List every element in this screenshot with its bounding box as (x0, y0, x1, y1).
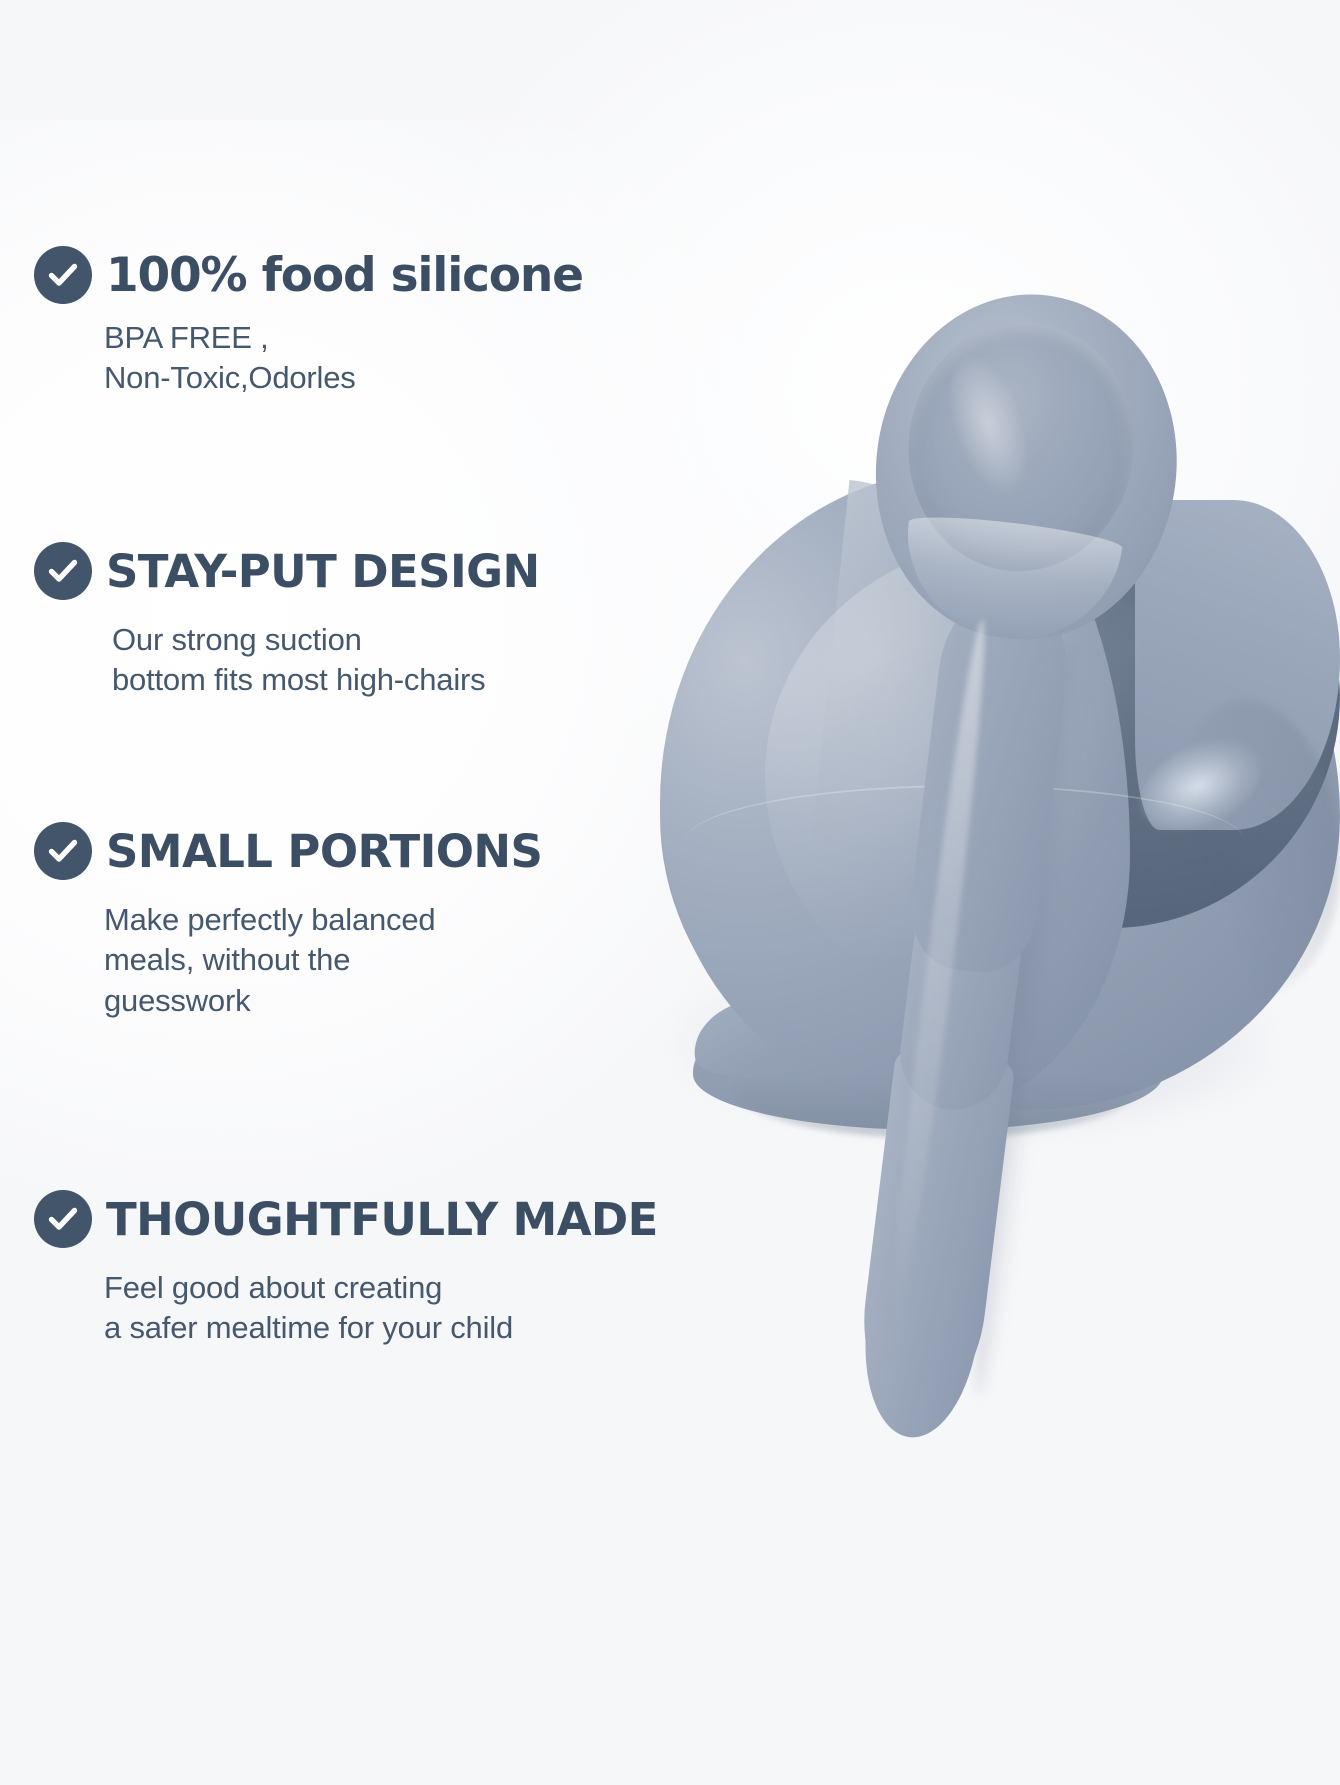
spoon-handle-tip (854, 1311, 980, 1444)
feature-item-small-portions: SMALL PORTIONS Make perfectly balanced m… (34, 822, 754, 1021)
feature-body: Feel good about creating a safer mealtim… (104, 1268, 754, 1349)
feature-title: THOUGHTFULLY MADE (106, 1193, 658, 1246)
feature-body: BPA FREE , Non-Toxic,Odorles (104, 318, 754, 399)
feeding-spoon (762, 277, 1216, 1428)
feature-title: SMALL PORTIONS (106, 825, 542, 878)
check-circle-icon (34, 822, 92, 880)
feature-list: 100% food silicone BPA FREE , Non-Toxic,… (0, 0, 760, 1785)
feature-title: 100% food silicone (106, 248, 583, 303)
feature-item-thoughtfully-made: THOUGHTFULLY MADE Feel good about creati… (34, 1190, 754, 1349)
feature-body: Make perfectly balanced meals, without t… (104, 900, 754, 1021)
feature-item-food-silicone: 100% food silicone BPA FREE , Non-Toxic,… (34, 246, 754, 399)
feature-item-stay-put-design: STAY-PUT DESIGN Our strong suction botto… (34, 542, 754, 701)
check-circle-icon (34, 1190, 92, 1248)
feature-heading-row: THOUGHTFULLY MADE (34, 1190, 754, 1248)
feature-heading-row: 100% food silicone (34, 246, 754, 304)
feature-title: STAY-PUT DESIGN (106, 545, 540, 598)
feature-heading-row: STAY-PUT DESIGN (34, 542, 754, 600)
check-circle-icon (34, 246, 92, 304)
feature-heading-row: SMALL PORTIONS (34, 822, 754, 880)
check-circle-icon (34, 542, 92, 600)
feature-body: Our strong suction bottom fits most high… (112, 620, 754, 701)
